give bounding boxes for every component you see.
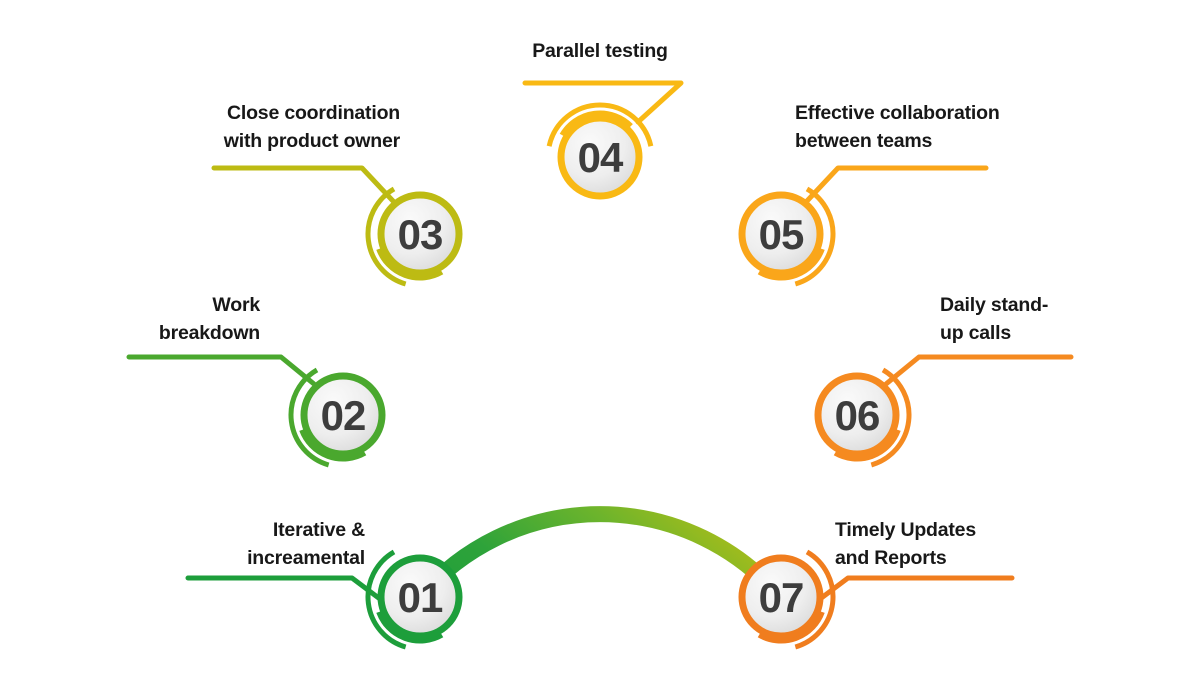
step-node-03[interactable]: 03: [380, 194, 460, 274]
step-label-02: Work breakdown: [10, 292, 260, 347]
leader-line-02: [129, 357, 314, 384]
step-node-02[interactable]: 02: [303, 375, 383, 455]
node-number-05: 05: [759, 211, 804, 258]
step-label-03: Close coordination with product owner: [70, 100, 400, 155]
step-node-05[interactable]: 05: [741, 194, 821, 274]
node-number-04: 04: [578, 134, 624, 181]
leader-line-06: [886, 357, 1071, 384]
node-number-01: 01: [398, 574, 443, 621]
node-number-03: 03: [398, 211, 443, 258]
step-label-01: Iterative & increamental: [45, 517, 365, 572]
leader-line-05: [807, 168, 986, 201]
main-arc-band: [420, 514, 780, 597]
node-number-02: 02: [321, 392, 366, 439]
step-label-05: Effective collaboration between teams: [795, 100, 1125, 155]
node-number-07: 07: [759, 574, 804, 621]
step-label-06: Daily stand- up calls: [940, 292, 1190, 347]
step-label-04: Parallel testing: [455, 38, 745, 66]
step-label-07: Timely Updates and Reports: [835, 517, 1155, 572]
step-node-04[interactable]: 04: [560, 117, 640, 197]
leader-line-03: [214, 168, 393, 201]
step-node-01[interactable]: 01: [380, 557, 460, 637]
step-node-06[interactable]: 06: [817, 375, 897, 455]
infographic-canvas: 01020304050607 Iterative & increamentalW…: [0, 0, 1200, 675]
node-number-06: 06: [835, 392, 880, 439]
leader-line-07: [812, 578, 1012, 605]
step-nodes-group: 01020304050607: [303, 117, 897, 637]
step-node-07[interactable]: 07: [741, 557, 821, 637]
leader-line-01: [188, 578, 388, 605]
